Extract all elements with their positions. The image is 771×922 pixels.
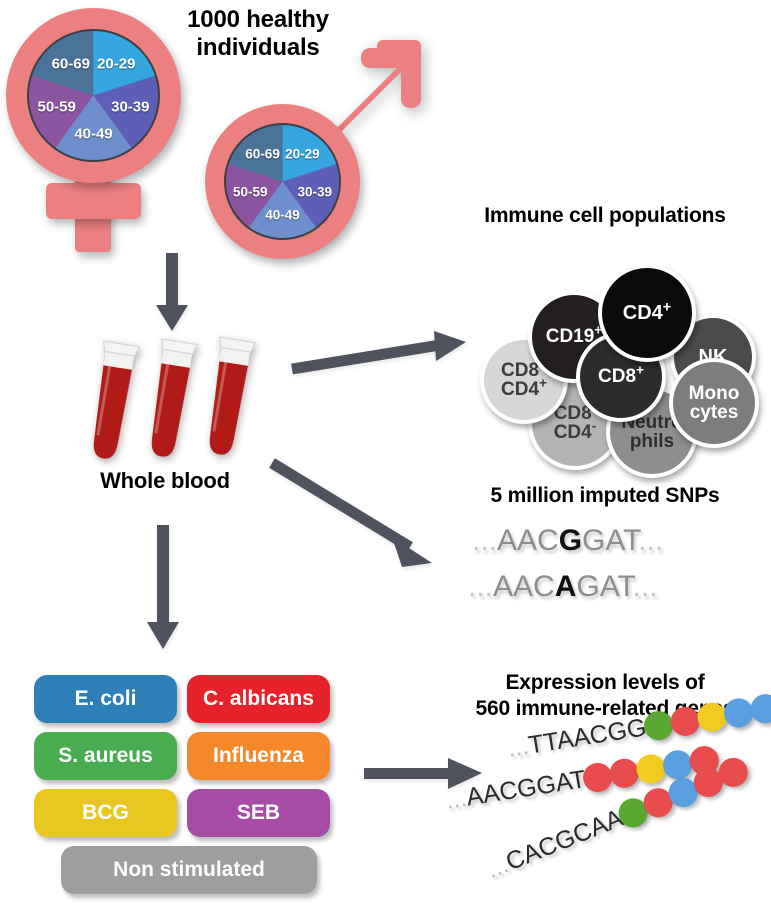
blood-tube <box>84 331 142 463</box>
pie-slice-label-40-49: 40-49 <box>74 126 112 143</box>
gene-strand-ellipsis: ... <box>483 850 513 884</box>
immune-cell-label-line: CD4+ <box>623 303 671 323</box>
stimulus-c-albicans[interactable]: C. albicans <box>187 675 330 723</box>
snp-section-title: 5 million imputed SNPs <box>440 484 770 509</box>
pie-slice-label-30-39: 30-39 <box>111 99 149 116</box>
arrow-cohort-to-blood <box>152 253 192 333</box>
snp-bases-after: GAT <box>576 570 632 603</box>
snp-prefix-ellipsis: ... <box>472 524 497 557</box>
blood-tube <box>142 329 200 461</box>
gene-expression-bead <box>669 705 702 738</box>
gene-strand-ellipsis: ... <box>506 732 531 763</box>
snp-suffix-ellipsis: ... <box>633 570 658 603</box>
gene-expression-strands: ...TTAACGG...AACGGAT...CACGCAA <box>446 735 771 920</box>
gene-strand-ellipsis: ... <box>444 784 469 815</box>
stimulus-bcg[interactable]: BCG <box>34 789 177 837</box>
immune-cell-cluster: CD19+CD4+NKCD8+CD4+CD8+MonocytesCD8-CD4-… <box>466 236 766 426</box>
age-distribution-pie-female: 20-2930-3940-4950-5960-69 <box>27 29 160 162</box>
pie-slice-label-30-39: 30-39 <box>297 184 332 199</box>
pie-slice-label-20-29: 20-29 <box>97 56 135 73</box>
pie-slice-label-60-69: 60-69 <box>52 56 90 73</box>
gene-expression-bead <box>722 696 755 729</box>
snp-suffix-ellipsis: ... <box>638 524 663 557</box>
stimuli-grid: E. coliC. albicansS. aureusInfluenzaBCGS… <box>34 675 344 837</box>
immune-cell-superscript: - <box>592 419 597 434</box>
age-distribution-pie-male: 20-2930-3940-4950-5960-69 <box>224 123 341 240</box>
snp-sequence-row: ...AACGGAT... <box>472 524 663 558</box>
pie-slice-label-20-29: 20-29 <box>285 147 320 162</box>
immune-cell-superscript: + <box>663 299 671 315</box>
snp-bases-after: GAT <box>582 524 638 557</box>
immune-cell-label-line: CD4- <box>554 423 597 442</box>
gene-expression-bead <box>635 752 668 785</box>
whole-blood-tubes <box>96 330 286 470</box>
stimulus-e-coli[interactable]: E. coli <box>34 675 177 723</box>
snp-prefix-ellipsis: ... <box>468 570 493 603</box>
snp-bases-before: AAC <box>493 570 555 603</box>
stimulus-seb[interactable]: SEB <box>187 789 330 837</box>
snp-variant-base: G <box>559 524 582 557</box>
whole-blood-label: Whole blood <box>60 468 270 494</box>
arrow-blood-to-immune <box>290 325 470 385</box>
female-symbol: 20-2930-3940-4950-5960-69 <box>6 8 186 258</box>
expression-title-line1: Expression levels of <box>440 670 770 696</box>
gene-expression-bead <box>695 701 728 734</box>
immune-cell-label-line: CD4+ <box>501 380 547 399</box>
stimulus-influenza[interactable]: Influenza <box>187 732 330 780</box>
immune-cell-label-line: phils <box>621 432 682 451</box>
male-symbol: 20-2930-3940-4950-5960-69 <box>205 86 420 261</box>
immune-cell-cd4[interactable]: CD4+ <box>598 264 696 362</box>
gene-expression-bead <box>608 757 641 790</box>
female-stem-horizontal <box>46 183 141 219</box>
gene-expression-bead <box>749 692 771 725</box>
arrow-blood-to-snp <box>268 455 448 585</box>
stimuli-panel: E. coliC. albicansS. aureusInfluenzaBCGS… <box>34 675 344 894</box>
immune-section-title: Immune cell populations <box>440 204 770 229</box>
immune-cell-superscript: + <box>539 376 547 391</box>
pie-slice-label-50-59: 50-59 <box>38 99 76 116</box>
snp-sequences: ...AACGGAT......AACAGAT... <box>468 524 768 614</box>
pie-slice-label-50-59: 50-59 <box>233 184 268 199</box>
snp-bases-before: AAC <box>497 524 559 557</box>
gene-strand-sequence: ...CACGCAA <box>483 804 628 885</box>
snp-sequence-row: ...AACAGAT... <box>468 570 658 604</box>
gene-strand-sequence: ...AACGGAT <box>444 765 588 816</box>
immune-cell-label-line: CD8+ <box>598 367 644 386</box>
pie-slice-label-40-49: 40-49 <box>265 208 300 223</box>
arrow-blood-to-stimuli <box>143 525 183 651</box>
blood-tube <box>200 327 258 459</box>
immune-cell-superscript: + <box>636 363 644 378</box>
immune-cell-monocytes[interactable]: Monocytes <box>669 358 759 448</box>
stimulus-non-stimulated[interactable]: Non stimulated <box>61 846 317 894</box>
snp-variant-base: A <box>555 570 577 603</box>
immune-cell-label-line: cytes <box>689 403 740 422</box>
pie-slice-label-60-69: 60-69 <box>245 147 280 162</box>
stimulus-s-aureus[interactable]: S. aureus <box>34 732 177 780</box>
immune-cell-label-line: Mono <box>689 384 740 403</box>
